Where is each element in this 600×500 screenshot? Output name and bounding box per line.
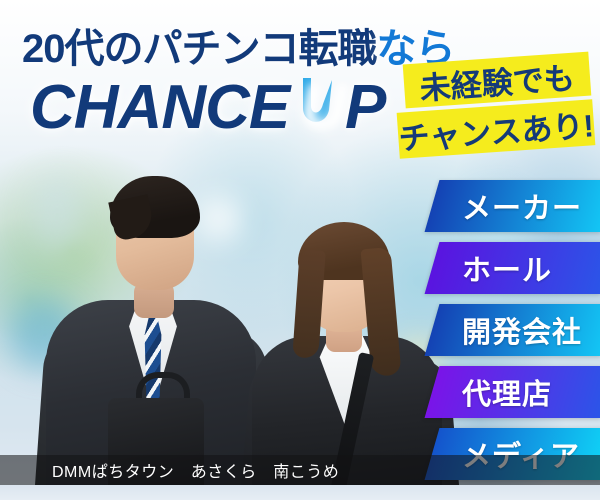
logo-chance-text: CHANCE [30, 73, 289, 142]
footer-credit-text: DMMぱちタウン あさくら 南こうめ [0, 458, 339, 482]
logo-chance-up: CHANCEUP [30, 72, 385, 143]
category-bar-developer[interactable]: 開発会社 [425, 304, 600, 356]
category-label: メーカー [432, 185, 582, 227]
category-bar-hall[interactable]: ホール [425, 242, 600, 294]
category-bar-maker[interactable]: メーカー [425, 180, 600, 232]
category-label: ホール [432, 247, 552, 289]
headline-main: 20代のパチンコ転職 [22, 27, 377, 71]
logo-up-group: UP [301, 72, 385, 143]
logo-p-letter: P [345, 73, 385, 142]
category-bar-agency[interactable]: 代理店 [425, 366, 600, 418]
headline: 20代のパチンコ転職なら [22, 16, 455, 74]
bottom-edge [0, 485, 600, 500]
footer-credit-strip: DMMぱちタウン あさくら 南こうめ [0, 455, 600, 485]
logo-u-letter: U [301, 73, 345, 142]
category-label: 代理店 [432, 371, 552, 413]
category-label: 開発会社 [432, 309, 582, 351]
banner-advertisement: 20代のパチンコ転職なら CHANCEUP 未経験でも チャンスあり! メーカー… [0, 0, 600, 500]
